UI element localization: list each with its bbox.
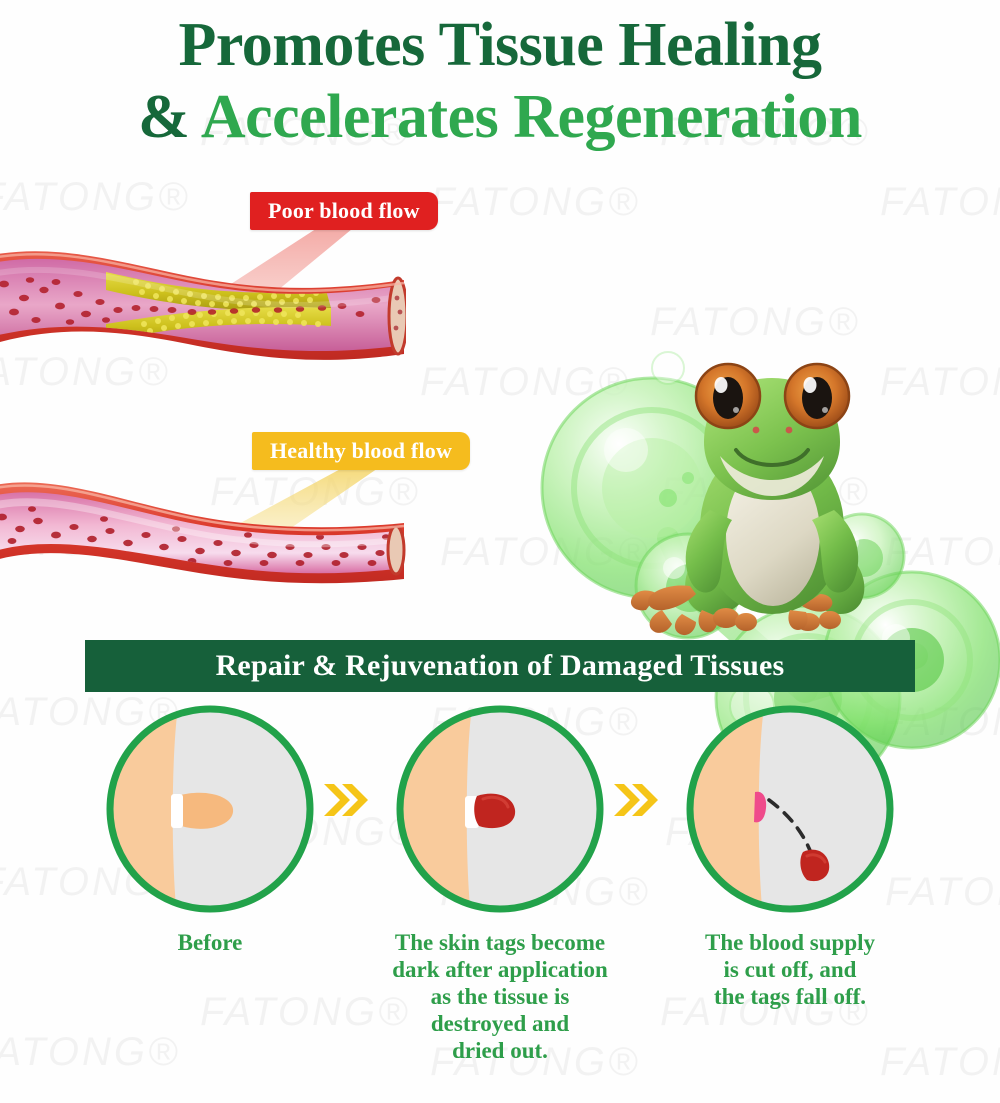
healthy-blood-flow-label: Healthy blood flow: [252, 432, 470, 470]
step-before: Before: [60, 700, 360, 957]
step-darkened-illustration: [391, 700, 609, 918]
product-infographic-page: FATONG® FATONG® FATONG® FATONG® FATONG® …: [0, 0, 1000, 1103]
page-title: Promotes Tissue Healing & Accelerates Re…: [0, 14, 1000, 148]
caption-line: dried out.: [356, 1038, 644, 1065]
step-fall-off-illustration: [681, 700, 899, 918]
step-darkened-caption: The skin tags become dark after applicat…: [350, 930, 650, 1065]
step-fall-off: The blood supply is cut off, and the tag…: [640, 700, 940, 1011]
step-fall-off-caption: The blood supply is cut off, and the tag…: [640, 930, 940, 1011]
caption-line: the tags fall off.: [646, 984, 934, 1011]
section-banner-title: Repair & Rejuvenation of Damaged Tissues: [216, 649, 785, 683]
caption-line: dark after application: [356, 957, 644, 984]
caption-line: The blood supply: [646, 930, 934, 957]
poor-blood-flow-label: Poor blood flow: [250, 192, 438, 230]
caption-line: is cut off, and: [646, 957, 934, 984]
headline-ampersand: &: [138, 83, 201, 151]
frog-eye-left: [696, 364, 760, 428]
blood-flow-comparison: Poor blood flow Healthy blood flow: [0, 170, 1000, 610]
section-banner: Repair & Rejuvenation of Damaged Tissues: [85, 640, 915, 692]
headline-accelerates: Accelerates Regeneration: [201, 83, 862, 151]
step-before-illustration: [101, 700, 319, 918]
caption-line: destroyed and: [356, 1011, 644, 1038]
headline-line-1: Promotes Tissue Healing: [0, 14, 1000, 76]
poor-blood-flow-text: Poor blood flow: [268, 198, 420, 224]
caption-line: The skin tags become: [356, 930, 644, 957]
headline-line-2: & Accelerates Regeneration: [0, 86, 1000, 148]
treatment-steps: Before: [0, 700, 1000, 1100]
caption-line: Before: [66, 930, 354, 957]
step-darkened: The skin tags become dark after applicat…: [350, 700, 650, 1065]
step-before-caption: Before: [60, 930, 360, 957]
double-chevron-right-icon: [322, 778, 368, 822]
clogged-blood-vessel-icon: [0, 242, 406, 372]
double-chevron-right-icon: [612, 778, 658, 822]
healthy-blood-vessel-icon: [0, 473, 406, 593]
caption-line: as the tissue is: [356, 984, 644, 1011]
frog-eye-right: [785, 364, 849, 428]
healthy-blood-flow-text: Healthy blood flow: [270, 438, 452, 464]
